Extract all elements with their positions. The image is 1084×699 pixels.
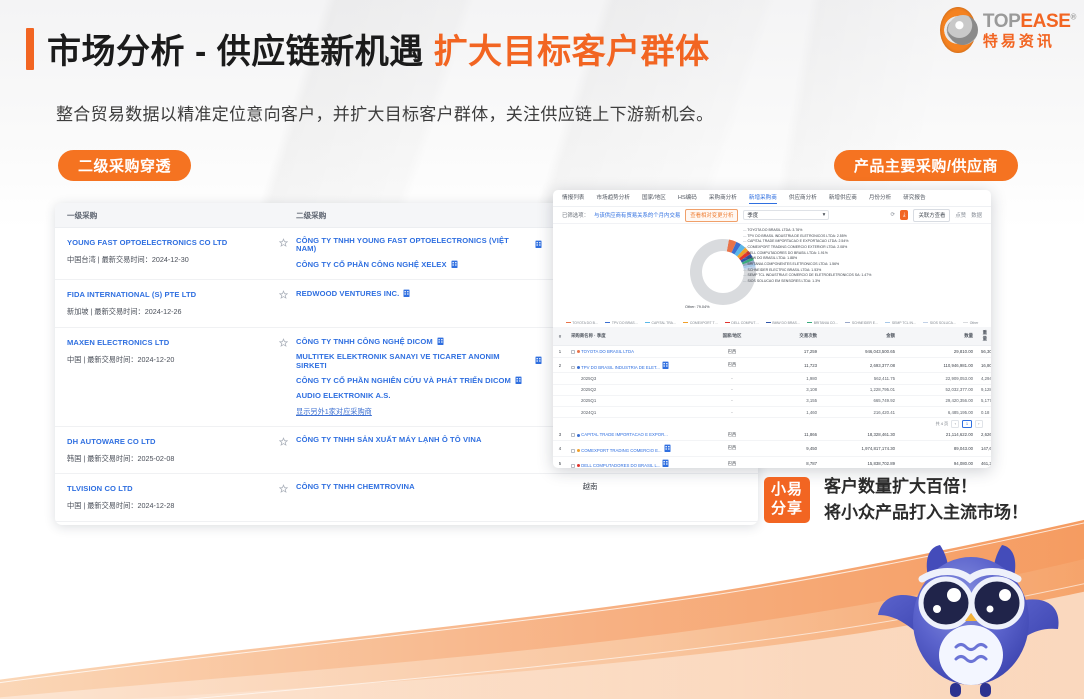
- row-index: [553, 384, 567, 395]
- buyer-table-body: 1TOYOTA DO BRASIL LTDA巴西17,259946,043,50…: [553, 346, 991, 418]
- brand-name-cn: 特易资讯: [983, 34, 1076, 49]
- quantity-cell: 29,810.00: [899, 346, 977, 358]
- legend-label-1: TPV DO BRASIL INDUSTRIA DE ELETRONICOS L…: [747, 234, 846, 238]
- table-row: TLVISION CO LTD中国 | 最新交易时间：2024-12-28CÔN…: [55, 474, 758, 522]
- company-profile-icon[interactable]: [662, 365, 669, 370]
- title-accent-bar: [26, 28, 34, 70]
- column-header-2[interactable]: 国家/地区: [705, 327, 759, 346]
- tier1-buyer-cell: DH AUTOWARE CO LTD韩国 | 最新交易时间：2025-02-08: [55, 436, 271, 465]
- series-color-swatch: [725, 322, 730, 323]
- legend-label-3: COMEXPORT TRADING COMERCIO EXTERIOR LTDA…: [747, 245, 847, 249]
- row-index: 5: [553, 456, 567, 468]
- quantity-cell: 110,946,981.00: [899, 358, 977, 373]
- buyer-table-row[interactable]: 2025Q2-3,1081,228,795.0152,032,377.009,1…: [553, 384, 991, 395]
- tier2-buyer-label: CÔNG TY CỔ PHẦN NGHIÊN CỨU VÀ PHÁT TRIỂN…: [296, 377, 511, 385]
- tag-product-main-buyers-suppliers: 产品主要采购/供应商: [834, 150, 1018, 181]
- buyer-name-cell[interactable]: TPV DO BRASIL INDUSTRIA DE ELET...: [567, 358, 705, 373]
- tier1-buyer-cell: TLVISION CO LTD中国 | 最新交易时间：2024-12-28: [55, 483, 271, 512]
- tab-4[interactable]: 采购商分析: [709, 193, 737, 203]
- company-profile-icon[interactable]: [662, 463, 669, 468]
- pagination-prev[interactable]: ‹: [951, 420, 959, 428]
- tab-2[interactable]: 国家/地区: [642, 193, 666, 203]
- row-index: 2: [553, 358, 567, 373]
- buyer-country-cell: 越南: [542, 483, 638, 512]
- expand-row-icon[interactable]: [571, 464, 575, 468]
- owl-mascot: [866, 543, 1076, 699]
- buyer-name-cell[interactable]: 2025Q3: [567, 373, 705, 384]
- tier1-buyer-name[interactable]: DH AUTOWARE CO LTD: [67, 436, 271, 447]
- country-cell: -: [705, 395, 759, 406]
- tier1-buyer-meta: 中国台湾 | 最新交易时间：2024-12-30: [67, 255, 271, 266]
- buyer-name-cell[interactable]: 2024Q1: [567, 406, 705, 417]
- tab-6[interactable]: 供应商分析: [789, 193, 817, 203]
- tier1-buyer-name[interactable]: TLVISION CO LTD: [67, 483, 271, 494]
- tier1-buyer-cell: YOUNG FAST OPTOELECTRONICS CO LTD中国台湾 | …: [55, 237, 271, 270]
- tier2-buyer-name[interactable]: CÔNG TY CỔ PHẦN NGHIÊN CỨU VÀ PHÁT TRIỂN…: [296, 376, 542, 386]
- column-header-4[interactable]: 金额: [821, 327, 899, 346]
- series-color-swatch: [885, 322, 890, 323]
- tier1-buyer-cell: MAXEN ELECTRONICS LTD中国 | 最新交易时间：2024-12…: [55, 337, 271, 417]
- badge-line-2: 分享: [771, 500, 803, 519]
- series-legend-item-0[interactable]: TOYOTA DO B…: [566, 321, 599, 325]
- buyer-name-cell[interactable]: TOYOTA DO BRASIL LTDA: [567, 346, 705, 358]
- buyer-name-cell[interactable]: 2025Q2: [567, 384, 705, 395]
- view-relative-change-button[interactable]: 查看相对变更分析: [685, 209, 738, 222]
- buyer-data-table: #采购商名称 · 季度国家/地区交易次数金额数量重量 1TOYOTA DO BR…: [553, 327, 991, 418]
- promo-callout: 小易 分享 客户数量扩大百倍！ 将小众产品打入主流市场！: [764, 474, 1028, 525]
- title-main: 市场分析 - 供应链新机遇: [47, 33, 424, 71]
- buyer-table-row[interactable]: 2024Q1-1,460216,420.416,485,195.000.18: [553, 406, 991, 417]
- weight-cell: 5,177.48: [977, 395, 991, 406]
- quantity-cell: 22,909,053.00: [899, 373, 977, 384]
- expand-row-icon[interactable]: [571, 433, 575, 437]
- pagination-next[interactable]: ›: [975, 420, 983, 428]
- promo-line-2: 将小众产品打入主流市场！: [824, 500, 1028, 526]
- quantity-cell: 94,080.00: [899, 456, 977, 468]
- company-profile-icon[interactable]: [535, 356, 542, 366]
- amount-cell: 946,043,500.65: [821, 346, 899, 358]
- quantity-cell: 52,032,377.00: [899, 384, 977, 395]
- refresh-icon[interactable]: ⟳: [891, 212, 896, 218]
- series-legend-label: BRITANIA CO…: [814, 321, 839, 325]
- buyer-data-table-continued: 3CAPITAL TRADE IMPORTACAO E EXPOR...巴西11…: [553, 429, 991, 468]
- amount-cell: 216,420.41: [821, 406, 899, 417]
- tier2-buyer-label: MULTITEK ELEKTRONIK SANAYI VE TICARET AN…: [296, 353, 531, 370]
- buyer-country-value: 越南: [542, 483, 638, 491]
- expand-row-icon[interactable]: [571, 366, 575, 370]
- series-legend-item-1[interactable]: TPV DO BRAS…: [605, 321, 638, 325]
- tab-9[interactable]: 研究报告: [903, 193, 925, 203]
- series-legend-label: DELL COMPUT…: [731, 321, 758, 325]
- row-index: 1: [553, 346, 567, 358]
- company-profile-icon[interactable]: [664, 448, 671, 453]
- topease-ring-icon: [940, 7, 976, 53]
- weight-cell: 147,623,098.14: [977, 441, 991, 456]
- brand-logo: TOPEASE® 特易资讯: [940, 6, 1076, 54]
- deal-count-cell: 1,460: [759, 406, 821, 417]
- buyer-name-cell[interactable]: COMEXPORT TRADING COMERCIO E...: [567, 441, 705, 456]
- deal-count-cell: 3,108: [759, 384, 821, 395]
- country-cell: 巴西: [705, 346, 759, 358]
- buyer-name[interactable]: CAPITAL TRADE IMPORTACAO E EXPOR...: [581, 432, 668, 437]
- column-header-3[interactable]: 交易次数: [759, 327, 821, 346]
- page-title: 市场分析 - 供应链新机遇 扩大目标客户群体: [26, 24, 710, 73]
- series-legend-label: SCHNEIDER E…: [852, 321, 879, 325]
- badge-line-1: 小易: [771, 481, 803, 500]
- series-color-swatch: [923, 322, 928, 323]
- legend-label-5: BMW DO BRASIL LTDA: 1.88%: [747, 256, 797, 260]
- series-legend-item-4[interactable]: DELL COMPUT…: [725, 321, 759, 325]
- tier2-buyer-label: CÔNG TY TNHH SẢN XUẤT MÁY LẠNH Ô TÔ VINA: [296, 436, 482, 444]
- promo-line-1: 客户数量扩大百倍！: [824, 474, 1028, 500]
- weight-cell: 2,626,312.87: [977, 429, 991, 441]
- chevron-down-icon: ▾: [823, 212, 826, 218]
- quantity-cell: 21,114,622.00: [899, 429, 977, 441]
- column-header-5[interactable]: 数量: [899, 327, 977, 346]
- series-dot: [577, 449, 580, 452]
- tier2-buyer-name[interactable]: CÔNG TY TNHH SẢN XUẤT MÁY LẠNH Ô TÔ VINA: [296, 436, 542, 444]
- tier2-buyer-cell: REDWOOD VENTURES INC.: [296, 289, 542, 318]
- company-profile-icon[interactable]: [437, 337, 444, 347]
- series-dot: [577, 366, 580, 369]
- tier2-buyer-label: CÔNG TY TNHH CHEMTROVINA: [296, 483, 415, 491]
- deal-count-cell: 17,259: [759, 346, 821, 358]
- company-profile-icon[interactable]: [403, 289, 410, 299]
- tier2-buyer-cell: CÔNG TY TNHH SẢN XUẤT MÁY LẠNH Ô TÔ VINA: [296, 436, 542, 465]
- favorite-star-icon[interactable]: [271, 337, 296, 417]
- buyer-table-row[interactable]: 3CAPITAL TRADE IMPORTACAO E EXPOR...巴西11…: [553, 429, 991, 441]
- weight-cell: 56,307,641.64: [977, 346, 991, 358]
- series-legend-item-3[interactable]: COMEXPORT T…: [683, 321, 718, 325]
- column-header-0[interactable]: #: [553, 327, 567, 346]
- amount-cell: 1,974,817,174.30: [821, 441, 899, 456]
- deal-count-cell: 8,787: [759, 456, 821, 468]
- tier2-buyer-cell: CÔNG TY TNHH CHEMTROVINA: [296, 483, 542, 512]
- donut-legend: — TOYOTA DO BRASIL LTDA: 3.76%— TPV DO B…: [743, 228, 988, 285]
- tab-5[interactable]: 新增采购商: [749, 193, 777, 204]
- tier2-buyer-cell: CÔNG TY TNHH CÔNG NGHỆ DICOMMULTITEK ELE…: [296, 337, 542, 417]
- weight-cell: 461,281.25: [977, 456, 991, 468]
- tag-secondary-purchase-penetration: 二级采购穿透: [58, 150, 191, 181]
- column-header-1[interactable]: 采购商名称 · 季度: [567, 327, 705, 346]
- company-profile-icon[interactable]: [451, 260, 458, 270]
- legend-label-9: SIOS SOLUCAO EM SENSORES LTDA: 1.3%: [747, 279, 820, 283]
- deal-count-cell: 11,866: [759, 429, 821, 441]
- quantity-cell: 6,485,195.00: [899, 406, 977, 417]
- buyer-table-row[interactable]: 2025Q1-3,155665,749.9229,420,356.005,177…: [553, 395, 991, 406]
- tier1-buyer-meta: 中国 | 最新交易时间：2024-12-28: [67, 501, 271, 512]
- expand-row-icon[interactable]: [571, 449, 575, 453]
- buyer-name[interactable]: DELL COMPUTADORES DO BRASIL L...: [581, 463, 660, 468]
- row-index: 3: [553, 429, 567, 441]
- title-accent: 扩大目标客户群体: [434, 33, 710, 71]
- favorite-star-icon[interactable]: [271, 289, 296, 318]
- tier2-buyer-label: REDWOOD VENTURES INC.: [296, 290, 399, 298]
- tier2-buyer-name[interactable]: CÔNG TY TNHH YOUNG FAST OPTOELECTRONICS …: [296, 237, 542, 254]
- favorite-star-icon[interactable]: [271, 237, 296, 270]
- brand-name-bottom: EASE: [1020, 11, 1070, 32]
- legend-label-6: BRITANIA COMPONENTES ELETRONICOS LTDA: 1…: [747, 262, 839, 266]
- buyer-name-cell[interactable]: 2025Q1: [567, 395, 705, 406]
- filter-label: 已筛选项：: [562, 211, 589, 219]
- row-index: [553, 395, 567, 406]
- series-legend-item-9[interactable]: SIOS SOLUCA…: [923, 321, 956, 325]
- show-more-link[interactable]: 显示另外1家对应采购商: [296, 407, 542, 417]
- series-color-swatch: [845, 322, 850, 323]
- series-legend-label: COMEXPORT T…: [690, 321, 718, 325]
- brand-reg-mark: ®: [1071, 12, 1077, 21]
- filter-applied-link[interactable]: 与该供应商有贸易关系的个月内交易: [594, 211, 680, 219]
- pagination-page-1[interactable]: 1: [962, 420, 971, 428]
- tier2-buyer-label: CÔNG TY TNHH YOUNG FAST OPTOELECTRONICS …: [296, 237, 531, 254]
- country-cell: -: [705, 373, 759, 384]
- series-legend-item-10[interactable]: Other: [963, 321, 978, 325]
- buyer-name-cell[interactable]: DELL COMPUTADORES DO BRASIL L...: [567, 456, 705, 468]
- tab-0[interactable]: 情报列表: [562, 193, 584, 203]
- donut-other-label: Other: 79.04%: [685, 305, 709, 309]
- series-color-swatch: [605, 322, 610, 323]
- table-row: SHANGHAI DIKAI CODING INDUSTRY CO LTD中国 …: [55, 522, 758, 525]
- series-color-swatch: [963, 322, 968, 323]
- country-cell: -: [705, 406, 759, 417]
- series-color-swatch: [645, 322, 650, 323]
- buyer-table-row[interactable]: 2025Q3-1,980562,411.7522,909,053.004,294…: [553, 373, 991, 384]
- weight-cell: 16,806.49: [977, 358, 991, 373]
- series-legend-label: SIOS SOLUCA…: [930, 321, 956, 325]
- series-legend-label: SEMP TCL IN…: [892, 321, 916, 325]
- series-dot: [577, 464, 580, 467]
- legend-label-0: TOYOTA DO BRASIL LTDA: 3.76%: [747, 228, 802, 232]
- row-actions[interactable]: [714, 483, 758, 512]
- legend-label-7: SCHNEIDER ELECTRIC BRASIL LTDA: 1.53%: [747, 268, 821, 272]
- series-legend-label: Other: [970, 321, 978, 325]
- period-select-value: 季度: [747, 211, 758, 219]
- series-legend-label: TOYOTA DO B…: [572, 321, 598, 325]
- amount-cell: 665,749.92: [821, 395, 899, 406]
- row-index: 4: [553, 441, 567, 456]
- tier2-buyer-label: CÔNG TY CỔ PHẦN CÔNG NGHỆ XELEX: [296, 261, 447, 269]
- series-legend-item-6[interactable]: BRITANIA CO…: [807, 321, 838, 325]
- expand-row-icon[interactable]: [571, 350, 575, 354]
- tab-3[interactable]: HS编码: [678, 193, 697, 203]
- tier2-buyer-cell: CÔNG TY TNHH YOUNG FAST OPTOELECTRONICS …: [296, 237, 542, 270]
- tab-8[interactable]: 月份分析: [869, 193, 891, 203]
- buyer-name-cell[interactable]: CAPITAL TRADE IMPORTACAO E EXPOR...: [567, 429, 705, 441]
- buyer-share-donut-chart: — TOYOTA DO BRASIL LTDA: 3.76%— TPV DO B…: [553, 224, 991, 318]
- pagination-info: 共 4 页: [936, 421, 948, 427]
- tab-7[interactable]: 新增供应商: [829, 193, 857, 203]
- buyer-table-row[interactable]: 2TPV DO BRASIL INDUSTRIA DE ELET...巴西11,…: [553, 358, 991, 373]
- export-icon[interactable]: ⤓: [900, 210, 908, 220]
- buyer-name[interactable]: TOYOTA DO BRASIL LTDA: [581, 349, 634, 354]
- xiaoyi-share-badge: 小易 分享: [764, 477, 810, 523]
- legend-entry-9: — SIOS SOLUCAO EM SENSORES LTDA: 1.3%: [743, 279, 988, 285]
- company-profile-icon[interactable]: [535, 240, 542, 250]
- tier2-buyer-name[interactable]: MULTITEK ELEKTRONIK SANAYI VE TICARET AN…: [296, 353, 542, 370]
- tier2-buyer-name[interactable]: CÔNG TY CỔ PHẦN CÔNG NGHỆ XELEX: [296, 260, 542, 270]
- row-index: [553, 406, 567, 417]
- deal-count-cell: 1,980: [759, 373, 821, 384]
- tier2-buyer-name[interactable]: AUDIO ELEKTRONIK A.S.: [296, 392, 542, 400]
- amount-cell: 562,411.75: [821, 373, 899, 384]
- quantity-cell: 29,420,356.00: [899, 395, 977, 406]
- series-legend-item-2[interactable]: CAPITAL TRA…: [645, 321, 676, 325]
- related-party-button[interactable]: 关联方查看: [913, 209, 950, 222]
- analytics-tab-bar[interactable]: 情报列表市场趋势分析国家/地区HS编码采购商分析新增采购商供应商分析新增供应商月…: [553, 190, 991, 207]
- deal-count-cell: 3,155: [759, 395, 821, 406]
- weight-cell: 9,128.66: [977, 384, 991, 395]
- tab-1[interactable]: 市场趋势分析: [596, 193, 630, 203]
- tier2-buyer-name[interactable]: REDWOOD VENTURES INC.: [296, 289, 542, 299]
- legend-label-2: CAPITAL TRADE IMPORTACAO E EXPORTACAO LT…: [747, 239, 848, 243]
- series-legend[interactable]: TOYOTA DO B…TPV DO BRAS…CAPITAL TRA…COME…: [553, 318, 991, 327]
- company-profile-icon[interactable]: [515, 376, 522, 386]
- series-legend-label: CAPITAL TRA…: [652, 321, 677, 325]
- amount-cell: 2,693,377.08: [821, 358, 899, 373]
- buyer-table-row[interactable]: 1TOYOTA DO BRASIL LTDA巴西17,259946,043,50…: [553, 346, 991, 358]
- series-color-swatch: [766, 322, 771, 323]
- series-legend-item-7[interactable]: SCHNEIDER E…: [845, 321, 878, 325]
- tier1-buyer-meta: 中国 | 最新交易时间：2024-12-20: [67, 355, 271, 366]
- analytics-filter-bar[interactable]: 已筛选项： 与该供应商有贸易关系的个月内交易 查看相对变更分析 季度 ▾ ⟳ ⤓…: [553, 207, 991, 224]
- buyer-share-cell: [638, 483, 714, 512]
- country-cell: 巴西: [705, 441, 759, 456]
- tier1-buyer-meta: 新加坡 | 最新交易时间：2024-12-26: [67, 307, 271, 318]
- series-color-swatch: [683, 322, 688, 323]
- promo-text: 客户数量扩大百倍！ 将小众产品打入主流市场！: [824, 474, 1028, 525]
- series-color-swatch: [566, 322, 571, 323]
- amount-cell: 15,838,702.89: [821, 456, 899, 468]
- legend-label-8: SEMP TCL INDUSTRIA E COMERCIO DE ELETROE…: [747, 273, 871, 277]
- favorite-star-icon[interactable]: [271, 483, 296, 512]
- tier1-buyer-name[interactable]: FIDA INTERNATIONAL (S) PTE LTD: [67, 289, 271, 300]
- tier1-buyer-meta: 韩国 | 最新交易时间：2025-02-08: [67, 454, 271, 465]
- country-cell: 巴西: [705, 358, 759, 373]
- analytics-panel: 情报列表市场趋势分析国家/地区HS编码采购商分析新增采购商供应商分析新增供应商月…: [553, 190, 991, 468]
- legend-label-4: DELL COMPUTADORES DO BRASIL LTDA: 1.91%: [747, 251, 827, 255]
- amount-cell: 1,228,795.01: [821, 384, 899, 395]
- tier1-buyer-name[interactable]: YOUNG FAST OPTOELECTRONICS CO LTD: [67, 237, 271, 248]
- tier2-buyer-name[interactable]: CÔNG TY TNHH CÔNG NGHỆ DICOM: [296, 337, 542, 347]
- tier2-buyer-label: AUDIO ELEKTRONIK A.S.: [296, 392, 391, 400]
- column-header-6[interactable]: 重量: [977, 327, 991, 346]
- series-color-swatch: [807, 322, 812, 323]
- deal-count-cell: 11,723: [759, 358, 821, 373]
- brand-wordmark: TOPEASE® 特易资讯: [983, 12, 1076, 49]
- buyer-table-body-continued: 3CAPITAL TRADE IMPORTACAO E EXPOR...巴西11…: [553, 429, 991, 468]
- period-select[interactable]: 季度 ▾: [743, 210, 829, 220]
- favorite-star-icon[interactable]: [271, 436, 296, 465]
- like-button[interactable]: 点赞: [955, 211, 966, 219]
- buyer-table-header-row: #采购商名称 · 季度国家/地区交易次数金额数量重量: [553, 327, 991, 346]
- series-legend-item-8[interactable]: SEMP TCL IN…: [885, 321, 916, 325]
- column-header-tier1-buyer: 一级采购: [55, 210, 271, 221]
- buyer-name[interactable]: TPV DO BRASIL INDUSTRIA DE ELET...: [581, 365, 660, 370]
- weight-cell: 0.18: [977, 406, 991, 417]
- buyer-table-row[interactable]: 5DELL COMPUTADORES DO BRASIL L...巴西8,787…: [553, 456, 991, 468]
- column-header-tier2-buyer: 二级采购: [296, 210, 586, 221]
- table-pagination[interactable]: 共 4 页 ‹ 1 ›: [553, 418, 991, 429]
- tier1-buyer-name[interactable]: MAXEN ELECTRONICS LTD: [67, 337, 271, 348]
- series-legend-label: BMW DO BRAS…: [772, 321, 800, 325]
- tier1-buyer-cell: FIDA INTERNATIONAL (S) PTE LTD新加坡 | 最新交易…: [55, 289, 271, 318]
- buyer-table-row[interactable]: 4COMEXPORT TRADING COMERCIO E...巴西9,4501…: [553, 441, 991, 456]
- tier2-buyer-name[interactable]: CÔNG TY TNHH CHEMTROVINA: [296, 483, 542, 491]
- page-subtitle: 整合贸易数据以精准定位意向客户，并扩大目标客户群体，关注供应链上下游新机会。: [56, 100, 713, 125]
- country-cell: -: [705, 384, 759, 395]
- series-legend-label: TPV DO BRAS…: [612, 321, 638, 325]
- series-dot: [577, 350, 580, 353]
- deal-count-cell: 9,450: [759, 441, 821, 456]
- country-cell: 巴西: [705, 456, 759, 468]
- buyer-name[interactable]: COMEXPORT TRADING COMERCIO E...: [581, 448, 661, 453]
- series-legend-item-5[interactable]: BMW DO BRAS…: [766, 321, 800, 325]
- row-index: [553, 373, 567, 384]
- brand-name-top: TOP: [983, 11, 1021, 32]
- series-dot: [577, 434, 580, 437]
- quantity-cell: 89,043.00: [899, 441, 977, 456]
- tier2-buyer-label: CÔNG TY TNHH CÔNG NGHỆ DICOM: [296, 338, 433, 346]
- data-button[interactable]: 数据: [971, 211, 982, 219]
- weight-cell: 4,294.18: [977, 373, 991, 384]
- country-cell: 巴西: [705, 429, 759, 441]
- amount-cell: 18,328,461.30: [821, 429, 899, 441]
